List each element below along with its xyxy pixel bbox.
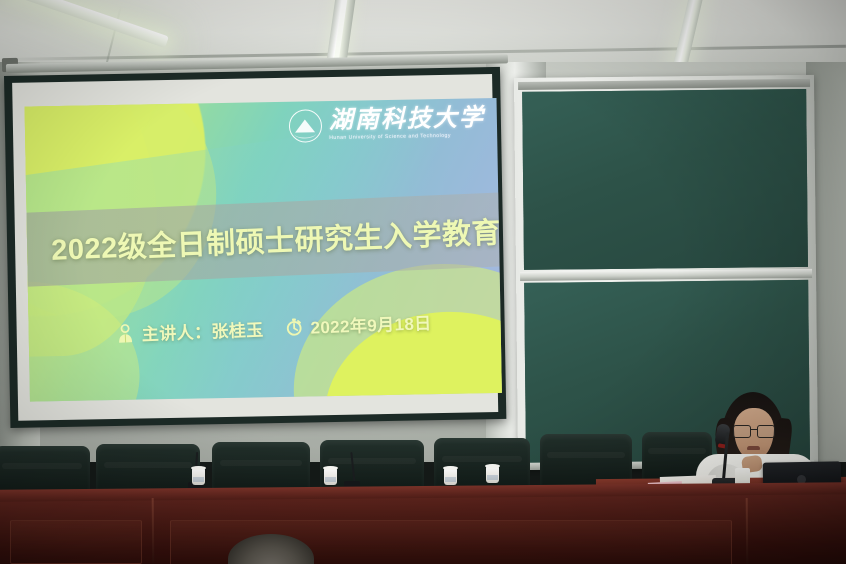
university-logo-text: 湖南科技大学 Hunan University of Science and T… [329,107,486,142]
university-logo: 湖南科技大学 Hunan University of Science and T… [289,106,486,143]
blackboard-panel-upper [522,89,808,270]
projection-screen: 湖南科技大学 Hunan University of Science and T… [4,67,506,428]
stopwatch-icon [285,317,303,337]
blackboard-top-rail [518,79,810,90]
screen-surface: 湖南科技大学 Hunan University of Science and T… [12,74,498,421]
paper-cup [444,468,457,485]
paper-cup [192,468,205,485]
paper-cup [486,466,499,483]
university-seal-icon [289,109,323,143]
glasses-icon [733,425,775,437]
blackboard-divider-rail [520,269,812,281]
desk-panel [10,520,142,564]
presentation-slide: 湖南科技大学 Hunan University of Science and T… [25,98,502,402]
date-text: 2022年9月18日 [310,309,432,339]
presenter-text: 主讲人：张桂玉 [141,316,264,346]
university-name-cn: 湖南科技大学 [329,107,485,134]
paper-cup [324,468,337,485]
fluorescent-tube-light-icon [0,0,169,48]
lecture-hall-photo: 湖南科技大学 Hunan University of Science and T… [0,0,846,564]
person-icon [116,324,134,344]
